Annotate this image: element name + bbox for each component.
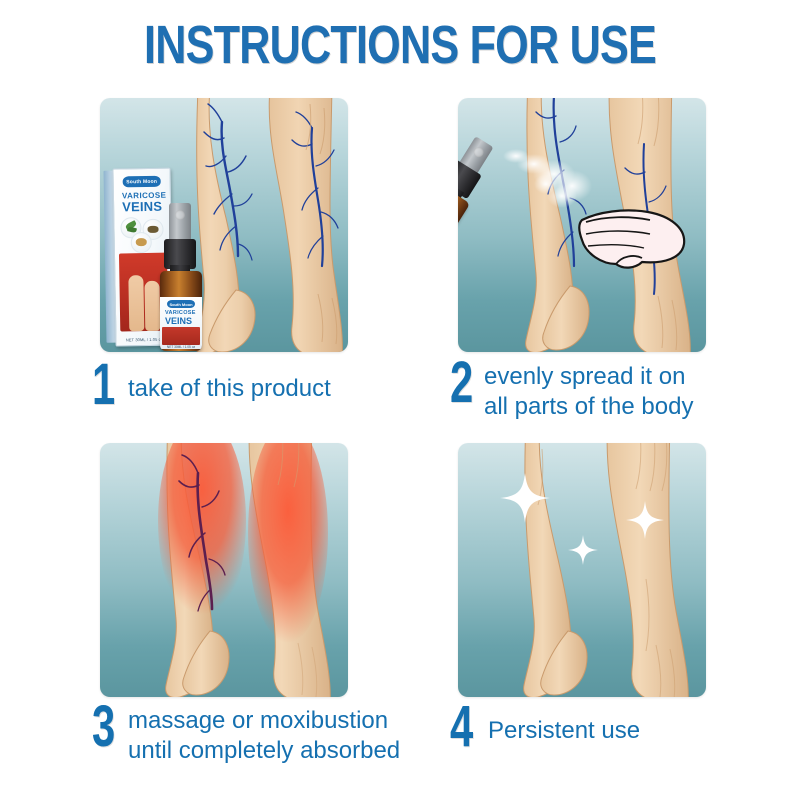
herb-icon-ginger — [131, 232, 152, 253]
step-number: 3 — [92, 704, 121, 750]
step-2-caption: 2 evenly spread it on all parts of the b… — [450, 360, 693, 422]
step-1-image: South Moon VARICOSE VEINS — [100, 98, 348, 352]
spray-bottle: South Moon VARICOSE VEINS NET 30ML / 1.0… — [158, 203, 204, 351]
step-text-line1: evenly spread it on — [484, 363, 685, 390]
bottle-label-photo — [162, 327, 200, 345]
legs-with-varicose-veins — [192, 98, 348, 352]
step-text-line1: take of this product — [128, 375, 331, 402]
step-3-caption: 3 massage or moxibustion until completel… — [92, 704, 400, 766]
step-3-image — [100, 443, 348, 697]
step-text: Persistent use — [488, 704, 640, 746]
page-title: INSTRUCTIONS FOR USE — [80, 18, 720, 72]
net-content-bottle: NET 30ML / 1.05 oz — [160, 345, 202, 349]
step-text: take of this product — [128, 362, 331, 404]
bottle-label: South Moon VARICOSE VEINS NET 30ML / 1.0… — [160, 297, 202, 349]
step-1-caption: 1 take of this product — [92, 362, 331, 408]
step-4-caption: 4 Persistent use — [450, 704, 640, 750]
brand-logo: South Moon — [123, 176, 161, 188]
step-text-line2: all parts of the body — [484, 392, 693, 422]
bottle-cap — [169, 203, 191, 243]
spray-bottle-tilted: South Moon VARICOSE VEINS — [458, 131, 505, 282]
step-text: evenly spread it on all parts of the bod… — [484, 360, 693, 422]
step-text: massage or moxibustion until completely … — [128, 704, 400, 766]
step-text-line2: until completely absorbed — [128, 736, 400, 766]
bottle-body: South Moon VARICOSE VEINS NET 30ML / 1.0… — [160, 271, 202, 351]
scene-product-and-legs: South Moon VARICOSE VEINS — [100, 98, 348, 352]
instructions-page: INSTRUCTIONS FOR USE — [0, 0, 800, 800]
sparkle-icon — [568, 535, 598, 565]
bottle-name-line2: VEINS — [165, 316, 192, 326]
step-4-image — [458, 443, 706, 697]
step-text-line1: Persistent use — [488, 717, 640, 744]
legs-with-warming-effect — [158, 443, 348, 697]
product-name-line2: VEINS — [122, 199, 162, 215]
step-number: 1 — [92, 362, 121, 408]
step-number: 2 — [450, 360, 479, 406]
scene-healthy-legs — [458, 443, 706, 697]
sparkle-icon — [626, 501, 664, 539]
sparkle-icon — [500, 473, 550, 523]
scene-warming-massage — [100, 443, 348, 697]
hand-spreading — [576, 198, 691, 278]
step-2-image: South Moon VARICOSE VEINS — [458, 98, 706, 352]
scene-spray-and-spread: South Moon VARICOSE VEINS — [458, 98, 706, 352]
step-number: 4 — [450, 704, 479, 750]
bottle-brand-logo: South Moon — [167, 300, 195, 308]
step-text-line1: massage or moxibustion — [128, 707, 388, 734]
